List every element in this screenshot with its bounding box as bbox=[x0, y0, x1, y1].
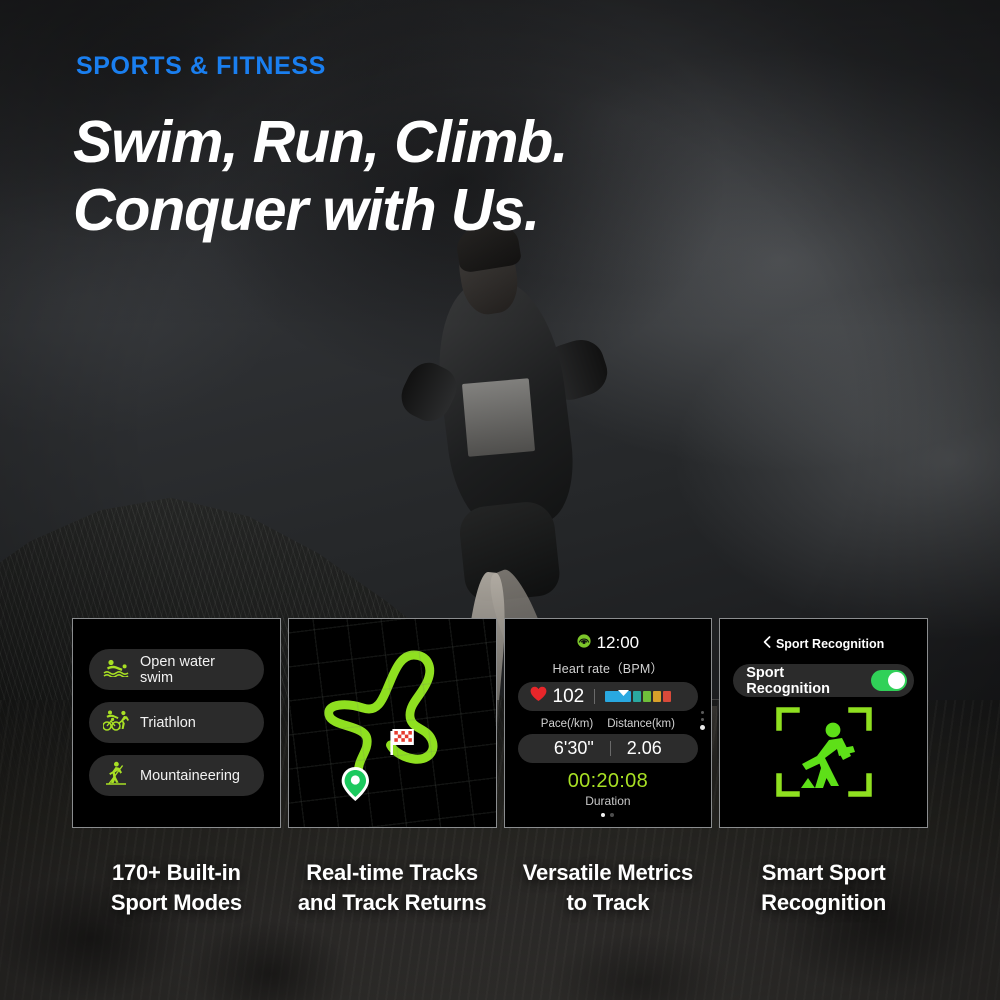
chevron-left-icon[interactable] bbox=[763, 636, 771, 651]
caption-line-1: Versatile Metrics bbox=[504, 858, 713, 888]
sr-row-label: Sport Recognition bbox=[746, 665, 871, 697]
heart-rate-zone-bar bbox=[605, 691, 671, 702]
toggle-knob bbox=[888, 672, 905, 689]
triathlon-icon bbox=[103, 709, 129, 736]
caption-row: 170+ Built-in Sport Modes Real-time Trac… bbox=[72, 858, 928, 917]
distance-label: Distance(km) bbox=[607, 718, 675, 730]
sport-mode-list: Open water swim bbox=[73, 619, 280, 796]
feature-card-row: Open water swim bbox=[72, 618, 928, 828]
hr-zone-4 bbox=[653, 691, 661, 702]
divider bbox=[610, 741, 611, 756]
headline-line-1: Swim, Run, Climb. bbox=[73, 108, 933, 176]
hr-zone-2 bbox=[633, 691, 641, 702]
sr-title: Sport Recognition bbox=[776, 637, 884, 651]
heart-rate-row[interactable]: 102 bbox=[518, 682, 699, 711]
scroll-indicator[interactable] bbox=[700, 711, 705, 730]
card-sport-recognition: Sport Recognition Sport Recognition bbox=[719, 618, 928, 828]
pace-distance-row[interactable]: 6'30" 2.06 bbox=[518, 734, 699, 763]
caption-versatile-metrics: Versatile Metrics to Track bbox=[504, 858, 713, 917]
heart-rate-value: 102 bbox=[553, 686, 585, 708]
caption-line-1: Real-time Tracks bbox=[288, 858, 497, 888]
checkered-flag-icon bbox=[390, 729, 413, 755]
scroll-pip bbox=[701, 718, 704, 721]
hr-zone-marker-icon bbox=[618, 690, 629, 696]
open-water-swim-icon bbox=[103, 657, 129, 682]
sport-recognition-toggle-row[interactable]: Sport Recognition bbox=[733, 664, 914, 697]
heart-rate-value-group: 102 bbox=[530, 686, 585, 708]
headline-line-2: Conquer with Us. bbox=[73, 176, 933, 244]
map-markers bbox=[289, 619, 496, 827]
metrics-screen: 12:00 Heart rate（BPM） 102 bbox=[505, 619, 712, 817]
sport-recognition-toggle[interactable] bbox=[871, 670, 907, 691]
pace-value: 6'30" bbox=[554, 738, 594, 759]
sport-mode-item-triathlon[interactable]: Triathlon bbox=[89, 702, 264, 743]
scroll-pip-active bbox=[700, 725, 705, 730]
eyebrow-label: SPORTS & FITNESS bbox=[76, 52, 326, 81]
mountaineering-icon bbox=[103, 761, 129, 790]
sport-mode-item-mountaineering[interactable]: Mountaineering bbox=[89, 755, 264, 796]
sr-header: Sport Recognition bbox=[720, 619, 927, 651]
caption-line-2: to Track bbox=[504, 888, 713, 918]
gps-signal-icon bbox=[577, 633, 591, 653]
card-sport-modes: Open water swim bbox=[72, 618, 281, 828]
location-pin-icon bbox=[341, 767, 368, 801]
sport-mode-item-open-water-swim[interactable]: Open water swim bbox=[89, 649, 264, 690]
caption-sport-modes: 170+ Built-in Sport Modes bbox=[72, 858, 281, 917]
page-dot-2[interactable] bbox=[610, 813, 614, 817]
current-time: 12:00 bbox=[597, 633, 640, 653]
caption-line-2: Sport Modes bbox=[72, 888, 281, 918]
caption-line-1: Smart Sport bbox=[719, 858, 928, 888]
page-dot-1[interactable] bbox=[601, 813, 605, 817]
heart-rate-label: Heart rate（BPM） bbox=[518, 658, 699, 677]
duration-value: 00:20:08 bbox=[518, 770, 699, 793]
caption-real-time-tracks: Real-time Tracks and Track Returns bbox=[288, 858, 497, 917]
sport-mode-label: Mountaineering bbox=[140, 768, 240, 784]
route-map[interactable] bbox=[289, 619, 496, 827]
caption-line-1: 170+ Built-in bbox=[72, 858, 281, 888]
caption-smart-sport-recognition: Smart Sport Recognition bbox=[719, 858, 928, 917]
pace-label: Pace(/km) bbox=[541, 718, 593, 730]
duration-label: Duration bbox=[518, 794, 699, 808]
sport-mode-label: Open water swim bbox=[140, 654, 250, 686]
card-route-map bbox=[288, 618, 497, 828]
heart-icon bbox=[530, 686, 547, 708]
scroll-pip bbox=[701, 711, 704, 714]
hr-zone-5 bbox=[663, 691, 671, 702]
distance-value: 2.06 bbox=[627, 738, 662, 759]
page-indicator bbox=[518, 813, 699, 817]
caption-line-2: and Track Returns bbox=[288, 888, 497, 918]
pace-distance-labels: Pace(/km) Distance(km) bbox=[518, 718, 699, 730]
divider bbox=[594, 689, 595, 704]
page-title: Swim, Run, Climb. Conquer with Us. bbox=[73, 108, 933, 245]
status-row: 12:00 bbox=[518, 633, 699, 653]
hr-zone-3 bbox=[643, 691, 651, 702]
running-scan-icon bbox=[720, 706, 927, 798]
card-metrics: 12:00 Heart rate（BPM） 102 bbox=[504, 618, 713, 828]
caption-line-2: Recognition bbox=[719, 888, 928, 918]
sport-mode-label: Triathlon bbox=[140, 715, 196, 731]
